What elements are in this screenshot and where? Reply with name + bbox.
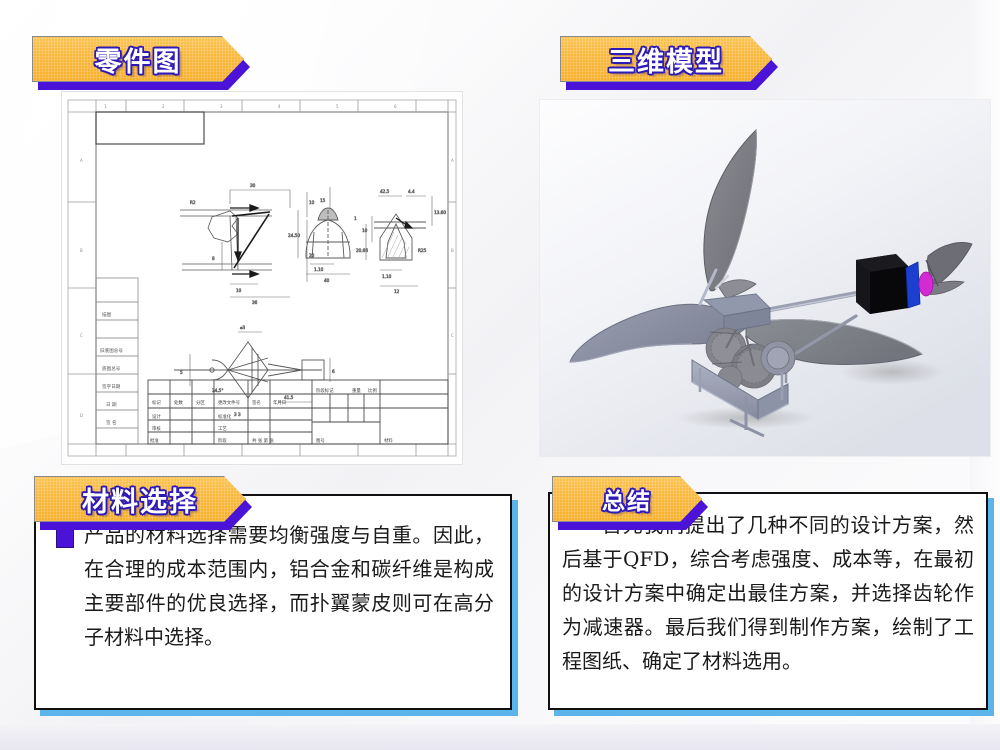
svg-text:12: 12 [394,289,400,294]
svg-text:A: A [451,158,454,163]
svg-text:15: 15 [320,198,326,203]
svg-text:3 3: 3 3 [234,412,241,417]
svg-text:30: 30 [250,183,256,188]
svg-text:批准: 批准 [150,437,159,444]
svg-text:重量: 重量 [352,387,361,394]
ornithopter-render-svg [540,100,990,456]
svg-text:B: B [80,248,83,253]
tab-material-selection[interactable]: 材料选择 [34,476,246,522]
svg-text:旧底图总号: 旧底图总号 [100,347,123,354]
svg-text:10: 10 [309,200,315,205]
svg-text:B: B [451,248,454,253]
svg-text:1.10: 1.10 [314,267,324,272]
svg-text:日 期: 日 期 [106,402,117,408]
svg-text:13.60: 13.60 [434,210,446,215]
tab-label-material-selection: 材料选择 [82,480,198,519]
svg-text:图号: 图号 [316,438,325,444]
tab-part-drawing[interactable]: 零件图 [32,36,244,82]
svg-text:6: 6 [332,369,335,374]
svg-text:10: 10 [362,228,368,233]
part-drawing-panel: 123 456 ABCD ABC [62,92,462,464]
tab-label-three-d-model: 三维模型 [608,40,724,79]
svg-text:4.4: 4.4 [408,189,415,194]
svg-text:1.10: 1.10 [382,274,392,279]
svg-text:标准化: 标准化 [218,413,232,420]
svg-text:10: 10 [236,288,242,293]
svg-text:分区: 分区 [196,399,205,406]
tab-three-d-model[interactable]: 三维模型 [560,36,772,82]
svg-text:年月日: 年月日 [273,399,286,406]
svg-text:比例: 比例 [368,387,377,394]
svg-text:阶段标记: 阶段标记 [316,387,334,394]
svg-text:审核: 审核 [152,425,161,432]
svg-text:8: 8 [212,256,215,261]
svg-text:5: 5 [180,370,183,375]
material-selection-text: 产品的材料选择需要均衡强度与自重。因此，在合理的成本范围内，铝合金和碳纤维是构成… [84,518,494,654]
svg-text:R2: R2 [190,200,196,205]
svg-text:更改文件号: 更改文件号 [218,399,241,406]
svg-text:41.5: 41.5 [284,395,294,400]
slide-canvas: 零件图 [0,0,1000,750]
svg-text:签 名: 签 名 [106,419,117,426]
svg-text:材料: 材料 [384,437,393,444]
tab-label-summary: 总结 [602,482,652,516]
tab-label-part-drawing: 零件图 [95,40,182,79]
three-d-model-panel [540,100,990,456]
svg-text:⌀3: ⌀3 [240,325,246,330]
background-bottom-band [0,724,1000,750]
svg-text:C: C [80,333,83,338]
svg-text:设计: 设计 [152,413,161,420]
part-drawing-svg: 123 456 ABCD ABC [62,92,462,464]
svg-text:签字日期: 签字日期 [102,383,121,390]
svg-text:C: C [451,333,454,338]
svg-text:签名: 签名 [252,399,261,406]
svg-text:40: 40 [324,278,330,283]
svg-text:阶段: 阶段 [218,437,227,444]
svg-text:工艺: 工艺 [218,426,227,432]
svg-text:处数: 处数 [174,399,183,406]
tab-summary[interactable]: 总结 [552,476,702,522]
svg-text:42.5: 42.5 [380,189,390,194]
svg-text:D: D [80,413,83,418]
svg-text:标记: 标记 [152,399,161,406]
summary-text: 首先我们提出了几种不同的设计方案，然后基于QFD，综合考虑强度、成本等，在最初的… [562,508,974,678]
svg-text:1: 1 [354,216,357,221]
svg-text:R25: R25 [418,248,427,253]
svg-text:共 张 第 张: 共 张 第 张 [252,437,274,444]
svg-text:20.66: 20.66 [356,248,368,253]
bullet-square-icon [56,528,74,548]
svg-text:描图: 描图 [102,311,112,318]
svg-text:底图总号: 底图总号 [102,365,121,372]
svg-text:24.50: 24.50 [288,233,300,238]
svg-text:36: 36 [252,300,258,305]
svg-text:A: A [80,158,83,163]
